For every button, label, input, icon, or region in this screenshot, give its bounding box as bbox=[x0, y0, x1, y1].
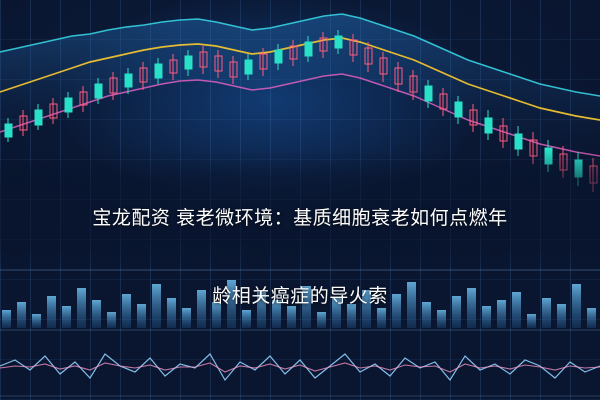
headline-line-1: 宝龙配资 衰老微环境：基质细胞衰老如何点燃年 bbox=[18, 199, 582, 238]
headline-text: 宝龙配资 衰老微环境：基质细胞衰老如何点燃年 龄相关癌症的导火索 bbox=[0, 160, 600, 355]
oscillator-slow-line bbox=[0, 363, 600, 372]
headline-line-2: 龄相关癌症的导火索 bbox=[18, 277, 582, 316]
oscillator-fast-line bbox=[0, 354, 600, 380]
banner-image: 宝龙配资 衰老微环境：基质细胞衰老如何点燃年 龄相关癌症的导火索 bbox=[0, 0, 600, 400]
